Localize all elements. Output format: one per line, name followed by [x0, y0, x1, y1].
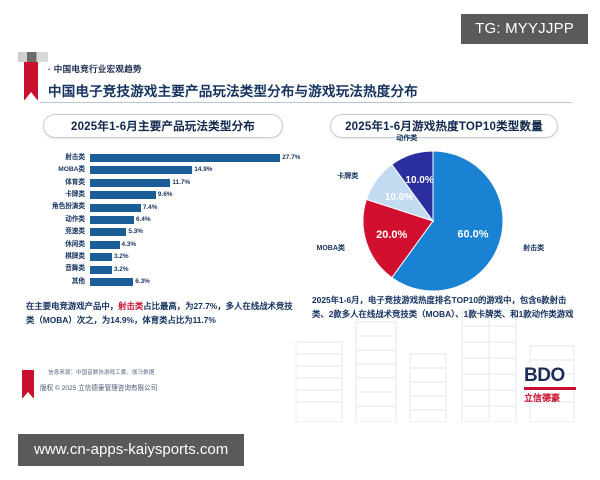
bar-category-label: MOBA类: [24, 167, 90, 174]
section-eyebrow: · 中国电竞行业宏观趋势: [48, 63, 142, 75]
bdo-logo-text: BDO: [524, 366, 576, 386]
bar-track: 6.4%: [90, 214, 302, 226]
bdo-logo: BDO 立信德豪: [524, 366, 576, 404]
bar-value-label: 4.3%: [122, 240, 137, 250]
bar-chart: 射击类27.7%MOBA类14.9%体育类11.7%卡牌类9.6%角色扮演类7.…: [24, 152, 302, 292]
telegram-watermark-tag: TG: MYYJJPP: [461, 14, 588, 44]
bar-fill: [90, 166, 192, 174]
bar-row: 其他6.3%: [24, 276, 302, 288]
pie-chart-title: 2025年1-6月游戏热度TOP10类型数量: [330, 114, 558, 138]
bar-track: 3.2%: [90, 251, 302, 263]
bar-row: 休闲类4.3%: [24, 239, 302, 251]
pie-category-label: 射击类: [523, 243, 544, 253]
bar-row: 角色扮演类7.4%: [24, 202, 302, 214]
bar-row: 卡牌类9.6%: [24, 189, 302, 201]
pie-value-label: 10.0%: [385, 192, 413, 203]
bar-track: 7.4%: [90, 202, 302, 214]
bar-fill: [90, 191, 156, 199]
bar-category-label: 休闲类: [24, 242, 90, 249]
bar-value-label: 5.3%: [128, 227, 143, 237]
bar-category-label: 音舞类: [24, 266, 90, 273]
page-title: 中国电子竞技游戏主要产品玩法类型分布与游戏玩法热度分布: [48, 80, 418, 100]
bar-category-label: 竞速类: [24, 229, 90, 236]
pie-value-label: 10.0%: [405, 175, 433, 186]
bar-fill: [90, 228, 126, 236]
note-prefix: 在主要电竞游戏产品中，: [26, 301, 118, 311]
bar-row: 射击类27.7%: [24, 152, 302, 164]
bar-value-label: 3.2%: [114, 252, 129, 262]
bar-value-label: 6.3%: [135, 277, 150, 287]
bar-track: 6.3%: [90, 276, 302, 288]
bar-fill: [90, 278, 133, 286]
bar-value-label: 14.9%: [194, 165, 212, 175]
bar-value-label: 27.7%: [282, 153, 300, 163]
pie-category-label: 动作类: [396, 133, 417, 143]
bar-value-label: 11.7%: [172, 178, 190, 188]
bar-track: 11.7%: [90, 177, 302, 189]
bar-fill: [90, 154, 280, 162]
title-divider: [40, 102, 572, 103]
header-ribbon-icon: [24, 58, 38, 100]
pie-value-label: 20.0%: [376, 229, 407, 241]
bar-row: 竞速类5.3%: [24, 226, 302, 238]
copyright-note: 版权 © 2025 立信德豪管理咨询有限公司: [40, 382, 157, 392]
bar-value-label: 6.4%: [136, 215, 151, 225]
bar-value-label: 7.4%: [143, 203, 158, 213]
source-note: 信息来源：中国音数协游戏工委、伽马数据: [48, 368, 154, 376]
pie-chart: 60.0%20.0%10.0%10.0% 射击类MOBA类卡牌类动作类: [310, 146, 578, 296]
screenshot-root: TG: MYYJJPP: [0, 0, 600, 480]
note-highlight: 射击类: [118, 301, 143, 311]
bar-category-label: 体育类: [24, 180, 90, 187]
bar-row: 音舞类3.2%: [24, 264, 302, 276]
footer-ribbon-icon: [22, 370, 34, 398]
bar-fill: [90, 266, 112, 274]
bar-fill: [90, 253, 112, 261]
bar-category-label: 卡牌类: [24, 192, 90, 199]
bdo-logo-cn: 立信德豪: [524, 391, 576, 404]
bar-track: 9.6%: [90, 189, 302, 201]
pie-chart-note: 2025年1-6月，电子竞技游戏热度排名TOP10的游戏中，包含6款射击类、2款…: [312, 294, 574, 321]
bar-value-label: 3.2%: [114, 265, 129, 275]
bar-value-label: 9.6%: [158, 190, 173, 200]
bar-row: 体育类11.7%: [24, 177, 302, 189]
bdo-logo-underline: [524, 387, 576, 390]
bar-row: 动作类6.4%: [24, 214, 302, 226]
pie-category-label: MOBA类: [317, 243, 345, 253]
bar-row: MOBA类14.9%: [24, 164, 302, 176]
bar-chart-title: 2025年1-6月主要产品玩法类型分布: [43, 114, 283, 138]
bar-category-label: 棋牌类: [24, 254, 90, 261]
url-watermark-banner: www.cn-apps-kaiysports.com: [18, 434, 244, 466]
bar-fill: [90, 179, 170, 187]
bar-track: 27.7%: [90, 152, 302, 164]
bar-category-label: 其他: [24, 279, 90, 286]
bar-track: 5.3%: [90, 226, 302, 238]
bar-track: 4.3%: [90, 239, 302, 251]
bar-row: 棋牌类3.2%: [24, 251, 302, 263]
bar-track: 3.2%: [90, 264, 302, 276]
bar-category-label: 射击类: [24, 155, 90, 162]
pie-value-label: 60.0%: [457, 228, 488, 240]
pie-category-label: 卡牌类: [337, 171, 358, 181]
bar-chart-note: 在主要电竞游戏产品中，射击类占比最高，为27.7%，多人在线战术竞技类（MOBA…: [26, 300, 298, 327]
slide-canvas: · 中国电竞行业宏观趋势 中国电子竞技游戏主要产品玩法类型分布与游戏玩法热度分布…: [14, 50, 586, 422]
bar-fill: [90, 204, 141, 212]
bar-fill: [90, 241, 120, 249]
bar-fill: [90, 216, 134, 224]
pixelated-redaction: [18, 52, 48, 62]
bar-category-label: 动作类: [24, 217, 90, 224]
bar-track: 14.9%: [90, 164, 302, 176]
bar-category-label: 角色扮演类: [24, 204, 90, 211]
